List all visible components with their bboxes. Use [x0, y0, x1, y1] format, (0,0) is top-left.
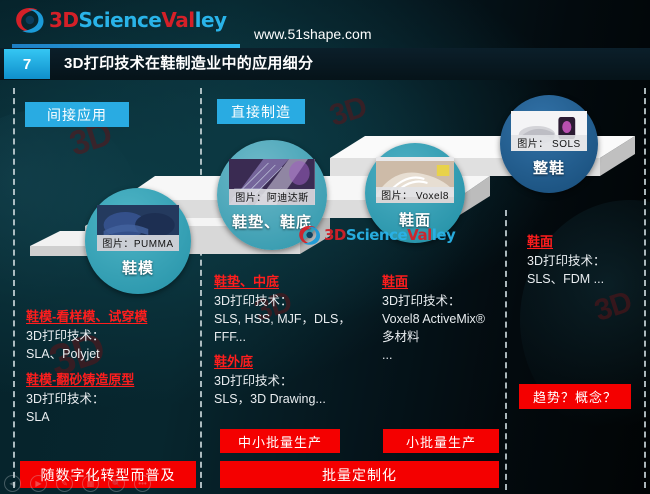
group-heading: 鞋面	[382, 272, 485, 292]
chip-small-medium-batch[interactable]: 中小批量生产	[220, 429, 340, 453]
logo-text-valley-b: ley	[195, 8, 227, 32]
pill-direct-manufacturing[interactable]: 直接制造	[217, 99, 305, 124]
chip-label: 批量定制化	[322, 465, 397, 485]
shoe-mold-thumbnail: 图片：PUMMA	[97, 205, 180, 251]
pill-label: 直接制造	[231, 102, 291, 122]
presentation-toolbar[interactable]: ◀ ▶ ✎ ▦ 🔍 •••	[4, 475, 151, 492]
thumbnail-caption: 图片：阿迪达斯	[229, 189, 315, 205]
chip-mass-customization[interactable]: 批量定制化	[220, 461, 499, 488]
zoom-in-button[interactable]: 🔍	[108, 475, 125, 492]
group-heading: 鞋垫、中底	[214, 272, 351, 292]
presentation-slide: 3D 3D 3D 3D 3D 3DScienceValley www.51sha…	[0, 0, 650, 494]
chip-small-batch[interactable]: 小批量生产	[383, 429, 499, 453]
insole-sole-thumbnail: 图片：阿迪达斯	[229, 159, 315, 205]
slide-header: 3DScienceValley www.51shape.com	[0, 0, 650, 46]
group-line: SLA、Polyjet	[26, 345, 147, 363]
group-heading: 鞋外底	[214, 352, 351, 372]
watermark-wordmark: 3DScienceValley	[324, 225, 455, 245]
column-whole-shoe: 鞋面 3D打印技术： SLS、FDM ...	[527, 232, 605, 288]
group-line: SLS、FDM ...	[527, 270, 605, 288]
column-insole-midsole: 鞋垫、中底 3D打印技术： SLS, HSS, MJF，DLS， FFF... …	[214, 272, 351, 408]
pen-tool-button[interactable]: ✎	[56, 475, 73, 492]
logo-text-science: Science	[79, 8, 162, 32]
group-line: 3D打印技术：	[214, 372, 351, 390]
bubble-shoe-mold[interactable]: 图片：PUMMA 鞋模	[85, 188, 191, 294]
page-title: 3D打印技术在鞋制造业中的应用细分	[64, 52, 313, 73]
group-line: 3D打印技术：	[26, 390, 147, 408]
chip-label: 趋势？概念？	[533, 387, 617, 406]
thumbnail-caption: 图片：PUMMA	[97, 235, 180, 251]
group-heading: 鞋模-翻砂铸造原型	[26, 370, 147, 390]
group-line: 3D打印技术：	[214, 292, 351, 310]
group-line: 3D打印技术：	[26, 327, 147, 345]
brand-wordmark: 3DScienceValley	[49, 10, 227, 30]
whole-shoe-thumbnail: 图片： SOLS	[511, 111, 587, 151]
column-indirect-application: 鞋模-看样模、试穿模 3D打印技术： SLA、Polyjet 鞋模-翻砂铸造原型…	[26, 307, 147, 426]
swirl-logo-icon	[296, 222, 322, 248]
center-watermark-logo: 3DScienceValley	[296, 222, 455, 248]
logo-text-science: Science	[346, 226, 407, 244]
bubble-label: 鞋模	[122, 257, 154, 278]
logo-text-3d: 3D	[324, 226, 346, 244]
site-url: www.51shape.com	[254, 26, 372, 42]
group-line: Voxel8 ActiveMix®	[382, 310, 485, 328]
group-line: 3D打印技术：	[527, 252, 605, 270]
group-heading: 鞋面	[527, 232, 605, 252]
group-line: 3D打印技术：	[382, 292, 485, 310]
logo-text-valley-a: Val	[161, 8, 194, 32]
group-line: SLS，3D Drawing...	[214, 390, 351, 408]
pill-label: 间接应用	[47, 105, 107, 125]
logo-text-valley-a: Val	[407, 226, 432, 244]
next-slide-button[interactable]: ▶	[30, 475, 47, 492]
swirl-logo-icon	[12, 3, 46, 37]
logo-text-3d: 3D	[49, 8, 79, 32]
group-line: SLA	[26, 408, 147, 426]
group-line: SLS, HSS, MJF，DLS，	[214, 310, 351, 328]
brand-logo: 3DScienceValley	[12, 3, 227, 37]
chip-label: 中小批量生产	[238, 432, 322, 451]
previous-slide-button[interactable]: ◀	[4, 475, 21, 492]
pill-indirect-application[interactable]: 间接应用	[25, 102, 129, 127]
thumbnail-caption: 图片： Voxel8	[376, 187, 454, 203]
chip-label: 小批量生产	[406, 432, 476, 451]
slide-number-badge: 7	[4, 49, 50, 79]
bubble-label: 整鞋	[533, 157, 565, 178]
logo-text-valley-b: ley	[432, 226, 456, 244]
group-heading: 鞋模-看样模、试穿模	[26, 307, 147, 327]
column-shoe-upper: 鞋面 3D打印技术： Voxel8 ActiveMix® 多材料 ...	[382, 272, 485, 364]
bubble-whole-shoe[interactable]: 图片： SOLS 整鞋	[500, 95, 598, 193]
group-line: ...	[382, 346, 485, 364]
slide-grid-button[interactable]: ▦	[82, 475, 99, 492]
group-line: 多材料	[382, 328, 485, 346]
shoe-upper-thumbnail: 图片： Voxel8	[376, 157, 454, 203]
thumbnail-caption: 图片： SOLS	[511, 135, 587, 151]
more-options-button[interactable]: •••	[134, 475, 151, 492]
group-line: FFF...	[214, 328, 351, 346]
chip-trend-concept[interactable]: 趋势？概念？	[519, 384, 631, 409]
